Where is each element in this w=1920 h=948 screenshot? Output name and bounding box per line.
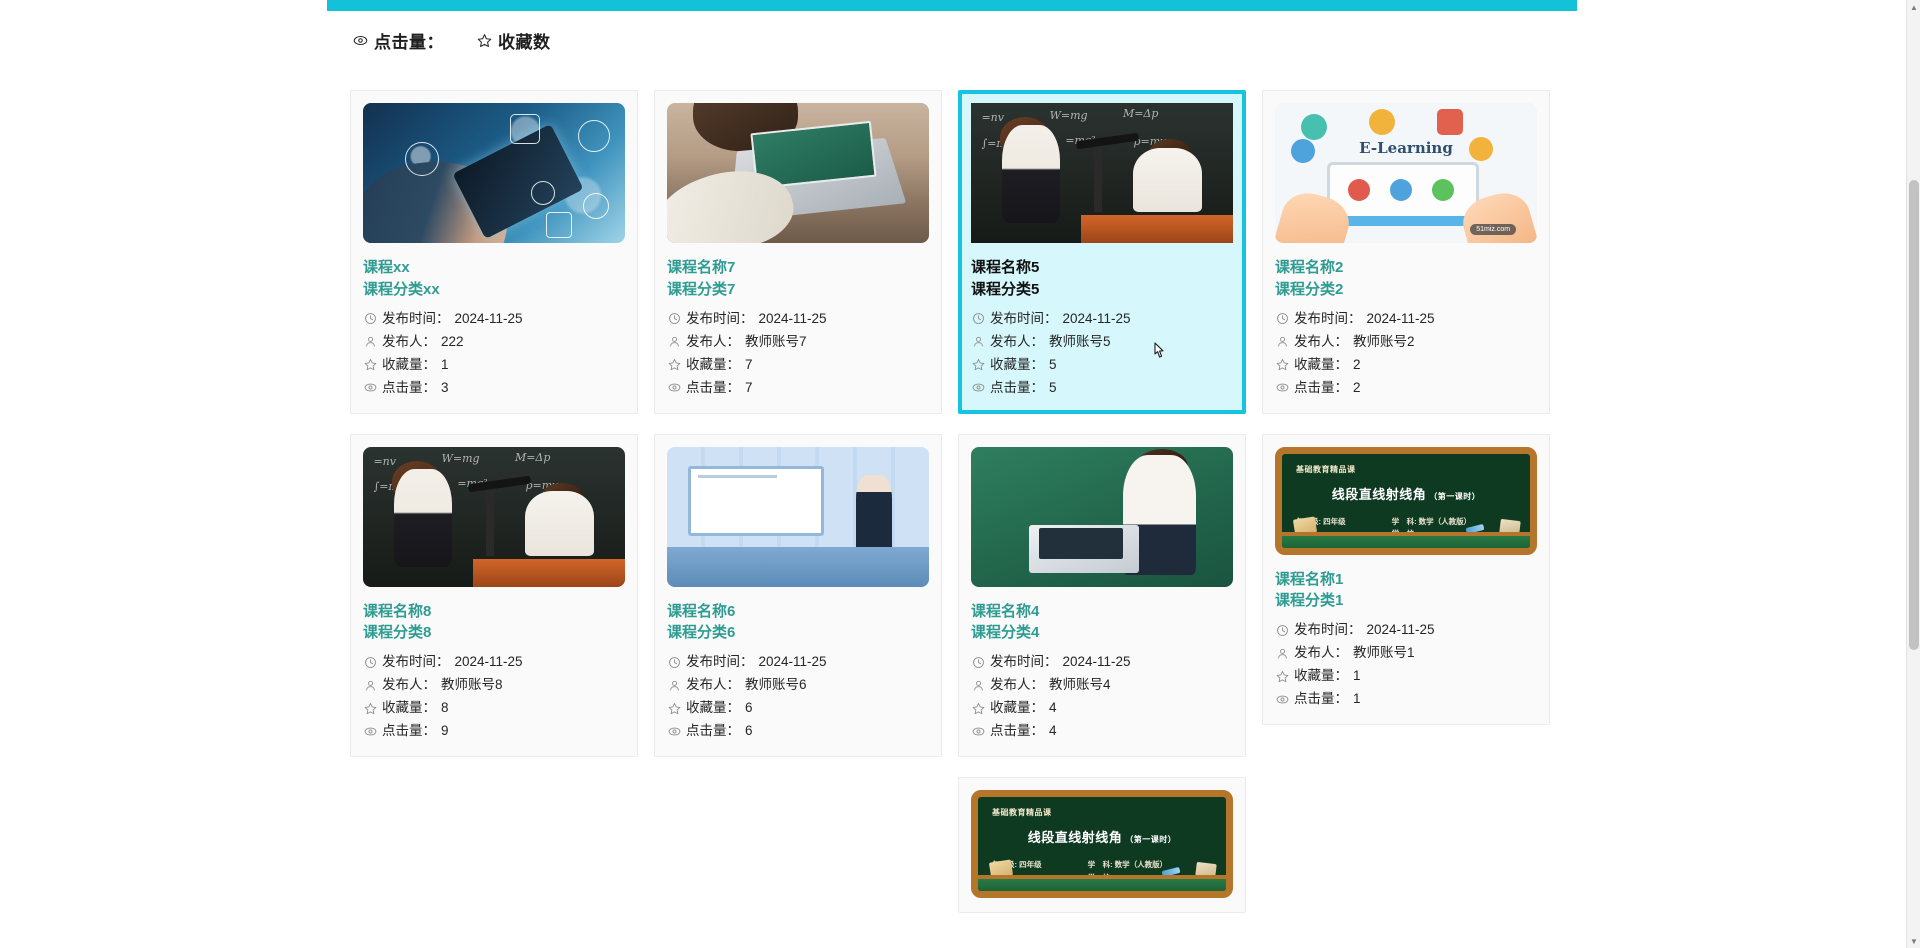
legend-item-favorites: 收藏数 xyxy=(476,28,551,53)
star-icon xyxy=(1275,669,1289,683)
star-icon xyxy=(363,358,377,372)
thumb-student-a xyxy=(1002,125,1060,223)
publish-time-label: 发布时间： xyxy=(990,312,1058,326)
publish-time-row: 发布时间：2024-11-25 xyxy=(1275,307,1537,330)
views-label: 点击量： xyxy=(990,381,1044,395)
thumb-student-a xyxy=(394,469,452,567)
eye-icon xyxy=(971,724,985,738)
publisher-label: 发布人： xyxy=(686,335,740,349)
favorites-value: 8 xyxy=(441,701,449,715)
publisher-value: 教师账号2 xyxy=(1353,335,1415,349)
slide-kicker: 基础教育精品课 xyxy=(992,807,1212,818)
publisher-value: 教师账号4 xyxy=(1049,678,1111,692)
course-title[interactable]: 课程名称4 xyxy=(971,601,1233,623)
publisher-label: 发布人： xyxy=(686,678,740,692)
publisher-label: 发布人： xyxy=(990,335,1044,349)
card-column-2: 课程名称7课程分类7发布时间：2024-11-25发布人：教师账号7收藏量：7点… xyxy=(654,90,942,777)
eye-icon xyxy=(667,724,681,738)
course-card[interactable]: 课程名称4课程分类4发布时间：2024-11-25发布人：教师账号4收藏量：4点… xyxy=(958,434,1246,758)
publisher-row: 发布人：教师账号8 xyxy=(363,673,625,696)
favorites-label: 收藏量： xyxy=(990,358,1044,372)
publisher-row: 发布人：教师账号4 xyxy=(971,673,1233,696)
views-row: 点击量：9 xyxy=(363,719,625,742)
clock-icon xyxy=(971,312,985,326)
publish-time-row: 发布时间：2024-11-25 xyxy=(667,650,929,673)
views-value: 3 xyxy=(441,381,449,395)
course-card[interactable]: 课程xx课程分类xx发布时间：2024-11-25发布人：222收藏量：1点击量… xyxy=(350,90,638,414)
favorites-label: 收藏量： xyxy=(382,358,436,372)
views-row: 点击量：7 xyxy=(667,376,929,399)
clock-icon xyxy=(1275,623,1289,637)
publisher-label: 发布人： xyxy=(990,678,1044,692)
views-row: 点击量：2 xyxy=(1275,376,1537,399)
user-icon xyxy=(667,335,681,349)
thumb-watermark: 51miz.com xyxy=(1470,224,1516,235)
views-label: 点击量： xyxy=(382,381,436,395)
favorites-row: 收藏量：8 xyxy=(363,696,625,719)
publisher-value: 222 xyxy=(441,335,464,349)
course-category[interactable]: 课程分类1 xyxy=(1275,590,1537,612)
tech-phone-thumbnail xyxy=(363,103,625,243)
thumb-bubble-lamp xyxy=(1301,114,1327,140)
publish-time-value: 2024-11-25 xyxy=(1367,312,1435,326)
favorites-value: 1 xyxy=(1353,669,1361,683)
views-value: 5 xyxy=(1049,381,1057,395)
views-label: 点击量： xyxy=(1294,381,1348,395)
slide-title: 线段直线射线角（第一课时） xyxy=(1296,484,1516,503)
publish-time-label: 发布时间： xyxy=(382,312,450,326)
views-value: 9 xyxy=(441,724,449,738)
user-icon xyxy=(971,335,985,349)
publisher-row: 发布人：222 xyxy=(363,330,625,353)
thumb-badge-3 xyxy=(578,120,610,152)
favorites-row: 收藏量：1 xyxy=(1275,664,1537,687)
favorites-value: 6 xyxy=(745,701,753,715)
thumb-telescope-stand xyxy=(1094,148,1102,212)
thumb-badge-5 xyxy=(583,193,609,219)
course-thumbnail[interactable] xyxy=(667,103,929,243)
favorites-row: 收藏量：5 xyxy=(971,353,1233,376)
favorites-label: 收藏量： xyxy=(686,358,740,372)
favorites-label: 收藏量： xyxy=(1294,669,1348,683)
elearning-illustration-thumbnail: E-Learning51miz.com xyxy=(1275,103,1537,243)
course-title[interactable]: 课程xx xyxy=(363,257,625,279)
views-label: 点击量： xyxy=(686,381,740,395)
course-thumbnail[interactable]: =nvW=mgM=Δp∫=πf=mc²p=mv xyxy=(971,103,1233,243)
thumb-bubble-user xyxy=(1469,137,1493,161)
scroll-down-arrow[interactable]: ▼ xyxy=(1907,934,1920,948)
slide-title-suffix: （第一课时） xyxy=(1125,835,1176,844)
legend-favorites-label: 收藏数 xyxy=(498,28,551,53)
favorites-value: 1 xyxy=(441,358,449,372)
publish-time-row: 发布时间：2024-11-25 xyxy=(971,307,1233,330)
jingpinke-slide-thumbnail: 基础教育精品课线段直线射线角（第一课时）年 级: 四年级主讲人: 学 科: 数学… xyxy=(971,790,1233,898)
publish-time-row: 发布时间：2024-11-25 xyxy=(1275,618,1537,641)
clock-icon xyxy=(1275,312,1289,326)
thumb-presenter xyxy=(856,475,893,553)
thumb-tablet-icon-3 xyxy=(1432,179,1454,201)
course-category[interactable]: 课程分类6 xyxy=(667,622,929,644)
course-thumbnail[interactable] xyxy=(363,103,625,243)
publisher-value: 教师账号6 xyxy=(745,678,807,692)
publish-time-label: 发布时间： xyxy=(990,655,1058,669)
thumb-tablet-icon-1 xyxy=(1348,179,1370,201)
card-column-4: E-Learning51miz.com课程名称2课程分类2发布时间：2024-1… xyxy=(1262,90,1550,745)
course-category[interactable]: 课程分类2 xyxy=(1275,279,1537,301)
accent-top-bar xyxy=(327,0,1577,11)
views-row: 点击量：5 xyxy=(971,376,1233,399)
eye-icon xyxy=(352,33,368,49)
publisher-row: 发布人：教师账号2 xyxy=(1275,330,1537,353)
thumb-elearning-title: E-Learning xyxy=(1359,139,1453,157)
publisher-row: 发布人：教师账号1 xyxy=(1275,641,1537,664)
publish-time-value: 2024-11-25 xyxy=(759,655,827,669)
student-laptop-thumbnail xyxy=(667,103,929,243)
user-icon xyxy=(971,678,985,692)
publisher-label: 发布人： xyxy=(382,335,436,349)
favorites-row: 收藏量：7 xyxy=(667,353,929,376)
course-thumbnail[interactable]: 基础教育精品课线段直线射线角（第一课时）年 级: 四年级主讲人: 学 科: 数学… xyxy=(971,790,1233,898)
course-thumbnail[interactable] xyxy=(971,447,1233,587)
slide-chalk-ledge xyxy=(1282,532,1530,548)
clock-icon xyxy=(363,312,377,326)
views-value: 1 xyxy=(1353,692,1361,706)
page-root: 点击量： 收藏数 课程xx课程分类xx发布时间：2024-11-25发布人：22… xyxy=(0,0,1920,948)
green-board-teacher-thumbnail xyxy=(971,447,1233,587)
thumb-equation-2: W=mg xyxy=(1050,109,1088,122)
thumb-badge-6 xyxy=(546,212,572,238)
publisher-label: 发布人： xyxy=(1294,646,1348,660)
eye-icon xyxy=(363,724,377,738)
favorites-row: 收藏量：4 xyxy=(971,696,1233,719)
thumb-telescope-stand xyxy=(486,491,494,555)
course-thumbnail[interactable]: E-Learning51miz.com xyxy=(1275,103,1537,243)
thumb-student-b xyxy=(525,491,593,555)
studio-whiteboard-thumbnail xyxy=(667,447,929,587)
clock-icon xyxy=(667,312,681,326)
scroll-up-arrow[interactable]: ▲ xyxy=(1907,0,1920,14)
favorites-row: 收藏量：6 xyxy=(667,696,929,719)
user-icon xyxy=(363,678,377,692)
scrollbar-thumb[interactable] xyxy=(1909,180,1919,650)
slide-kicker: 基础教育精品课 xyxy=(1296,464,1516,475)
publish-time-value: 2024-11-25 xyxy=(1367,623,1435,637)
views-label: 点击量： xyxy=(1294,692,1348,706)
legend-views-label: 点击量： xyxy=(374,28,444,53)
course-card[interactable]: 课程名称6课程分类6发布时间：2024-11-25发布人：教师账号6收藏量：6点… xyxy=(654,434,942,758)
publish-time-label: 发布时间： xyxy=(382,655,450,669)
slide-chalk-ledge xyxy=(978,875,1226,891)
clock-icon xyxy=(363,655,377,669)
favorites-value: 2 xyxy=(1353,358,1361,372)
legend-item-views: 点击量： xyxy=(352,28,444,53)
views-value: 4 xyxy=(1049,724,1057,738)
thumb-bubble-book xyxy=(1437,109,1463,135)
eye-icon xyxy=(363,381,377,395)
views-row: 点击量：6 xyxy=(667,719,929,742)
user-icon xyxy=(1275,335,1289,349)
course-title[interactable]: 课程名称2 xyxy=(1275,257,1537,279)
thumb-equation-2: W=mg xyxy=(442,452,480,465)
thumb-equation-1: =nv xyxy=(373,455,396,468)
publish-time-row: 发布时间：2024-11-25 xyxy=(971,650,1233,673)
course-card[interactable]: 基础教育精品课线段直线射线角（第一课时）年 级: 四年级主讲人: 学 科: 数学… xyxy=(1262,434,1550,726)
publisher-label: 发布人： xyxy=(382,678,436,692)
slide-title-suffix: （第一课时） xyxy=(1429,492,1480,501)
star-icon xyxy=(971,358,985,372)
publisher-row: 发布人：教师账号6 xyxy=(667,673,929,696)
favorites-label: 收藏量： xyxy=(686,701,740,715)
favorites-row: 收藏量：1 xyxy=(363,353,625,376)
publisher-value: 教师账号8 xyxy=(441,678,503,692)
course-card-board: 课程xx课程分类xx发布时间：2024-11-25发布人：222收藏量：1点击量… xyxy=(350,90,1550,948)
course-thumbnail[interactable]: =nvW=mgM=Δp∫=πf=mc²p=mv xyxy=(363,447,625,587)
eye-icon xyxy=(1275,381,1289,395)
publish-time-value: 2024-11-25 xyxy=(455,312,523,326)
course-card[interactable]: =nvW=mgM=Δp∫=πf=mc²p=mv课程名称5课程分类5发布时间：20… xyxy=(958,90,1246,414)
thumb-desk xyxy=(473,559,625,587)
course-card[interactable]: 课程名称7课程分类7发布时间：2024-11-25发布人：教师账号7收藏量：7点… xyxy=(654,90,942,414)
star-icon xyxy=(667,358,681,372)
publish-time-row: 发布时间：2024-11-25 xyxy=(363,650,625,673)
course-title[interactable]: 课程名称5 xyxy=(971,257,1233,279)
views-value: 7 xyxy=(745,381,753,395)
course-title[interactable]: 课程名称7 xyxy=(667,257,929,279)
card-column-3: =nvW=mgM=Δp∫=πf=mc²p=mv课程名称5课程分类5发布时间：20… xyxy=(958,90,1246,933)
eye-icon xyxy=(667,381,681,395)
user-icon xyxy=(363,335,377,349)
course-category[interactable]: 课程分类5 xyxy=(971,279,1233,301)
thumb-progress-bar xyxy=(1333,216,1474,226)
publisher-row: 发布人：教师账号7 xyxy=(667,330,929,353)
thumb-equation-3: M=Δp xyxy=(1123,107,1158,120)
course-card[interactable]: =nvW=mgM=Δp∫=πf=mc²p=mv课程名称8课程分类8发布时间：20… xyxy=(350,434,638,758)
course-thumbnail[interactable] xyxy=(667,447,929,587)
thumb-laptop-screen xyxy=(1039,528,1123,559)
favorites-label: 收藏量： xyxy=(990,701,1044,715)
favorites-label: 收藏量： xyxy=(1294,358,1348,372)
favorites-label: 收藏量： xyxy=(382,701,436,715)
thumb-badge-2 xyxy=(510,114,540,144)
course-card[interactable]: 基础教育精品课线段直线射线角（第一课时）年 级: 四年级主讲人: 学 科: 数学… xyxy=(958,777,1246,913)
publish-time-label: 发布时间： xyxy=(1294,312,1362,326)
course-category[interactable]: 课程分类7 xyxy=(667,279,929,301)
thumb-whiteboard-line xyxy=(698,475,777,478)
publisher-value: 教师账号5 xyxy=(1049,335,1111,349)
publisher-label: 发布人： xyxy=(1294,335,1348,349)
course-card[interactable]: E-Learning51miz.com课程名称2课程分类2发布时间：2024-1… xyxy=(1262,90,1550,414)
publish-time-label: 发布时间： xyxy=(686,655,754,669)
favorites-value: 5 xyxy=(1049,358,1057,372)
views-value: 6 xyxy=(745,724,753,738)
favorites-value: 7 xyxy=(745,358,753,372)
publisher-value: 教师账号7 xyxy=(745,335,807,349)
publisher-value: 教师账号1 xyxy=(1353,646,1415,660)
page-scrollbar[interactable]: ▲ ▼ xyxy=(1906,0,1920,948)
star-icon xyxy=(971,701,985,715)
star-icon xyxy=(667,701,681,715)
course-category[interactable]: 课程分类4 xyxy=(971,622,1233,644)
publish-time-row: 发布时间：2024-11-25 xyxy=(363,307,625,330)
user-icon xyxy=(1275,646,1289,660)
publish-time-value: 2024-11-25 xyxy=(1063,312,1131,326)
course-category[interactable]: 课程分类xx xyxy=(363,279,625,301)
thumb-bubble-search xyxy=(1291,139,1315,163)
classroom-chalkboard-thumbnail: =nvW=mgM=Δp∫=πf=mc²p=mv xyxy=(363,447,625,587)
star-icon xyxy=(476,33,492,49)
views-row: 点击量：1 xyxy=(1275,687,1537,710)
views-row: 点击量：4 xyxy=(971,719,1233,742)
star-icon xyxy=(363,701,377,715)
publish-time-value: 2024-11-25 xyxy=(759,312,827,326)
course-thumbnail[interactable]: 基础教育精品课线段直线射线角（第一课时）年 级: 四年级主讲人: 学 科: 数学… xyxy=(1275,447,1537,555)
views-label: 点击量： xyxy=(990,724,1044,738)
user-icon xyxy=(667,678,681,692)
course-title[interactable]: 课程名称6 xyxy=(667,601,929,623)
eye-icon xyxy=(1275,692,1289,706)
favorites-value: 4 xyxy=(1049,701,1057,715)
card-column-1: 课程xx课程分类xx发布时间：2024-11-25发布人：222收藏量：1点击量… xyxy=(350,90,638,777)
publisher-row: 发布人：教师账号5 xyxy=(971,330,1233,353)
clock-icon xyxy=(971,655,985,669)
views-label: 点击量： xyxy=(382,724,436,738)
clock-icon xyxy=(667,655,681,669)
thumb-floor xyxy=(667,547,929,586)
slide-title: 线段直线射线角（第一课时） xyxy=(992,827,1212,846)
thumb-tablet-icon-2 xyxy=(1390,179,1412,201)
thumb-bubble-globe xyxy=(1369,109,1395,135)
eye-icon xyxy=(971,381,985,395)
publish-time-row: 发布时间：2024-11-25 xyxy=(667,307,929,330)
publish-time-label: 发布时间： xyxy=(1294,623,1362,637)
thumb-badge-4 xyxy=(531,181,555,205)
legend-bar: 点击量： 收藏数 xyxy=(352,28,551,53)
course-category[interactable]: 课程分类8 xyxy=(363,622,625,644)
jingpinke-slide-thumbnail: 基础教育精品课线段直线射线角（第一课时）年 级: 四年级主讲人: 学 科: 数学… xyxy=(1275,447,1537,555)
publish-time-label: 发布时间： xyxy=(686,312,754,326)
views-label: 点击量： xyxy=(686,724,740,738)
thumb-equation-1: =nv xyxy=(981,111,1004,124)
classroom-chalkboard-thumbnail: =nvW=mgM=Δp∫=πf=mc²p=mv xyxy=(971,103,1233,243)
views-value: 2 xyxy=(1353,381,1361,395)
course-title[interactable]: 课程名称8 xyxy=(363,601,625,623)
thumb-badge-1 xyxy=(405,142,439,176)
star-icon xyxy=(1275,358,1289,372)
thumb-student-b xyxy=(1133,148,1201,212)
course-title[interactable]: 课程名称1 xyxy=(1275,569,1537,591)
favorites-row: 收藏量：2 xyxy=(1275,353,1537,376)
publish-time-value: 2024-11-25 xyxy=(1063,655,1131,669)
views-row: 点击量：3 xyxy=(363,376,625,399)
thumb-equation-3: M=Δp xyxy=(515,451,550,464)
thumb-desk xyxy=(1081,215,1233,243)
publish-time-value: 2024-11-25 xyxy=(455,655,523,669)
